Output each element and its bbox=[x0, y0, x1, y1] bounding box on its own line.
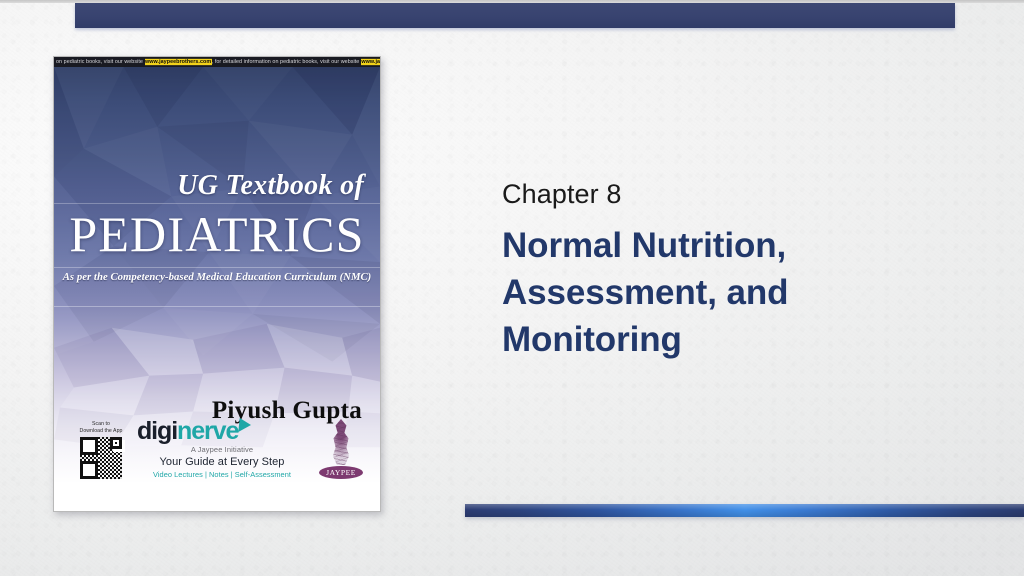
diginerve-tagline: Your Guide at Every Step bbox=[137, 456, 307, 468]
cover-title-line-1: UG Textbook of bbox=[177, 170, 364, 202]
book-cover-image: on pediatric books, visit our website ww… bbox=[53, 56, 381, 512]
chapter-label: Chapter 8 bbox=[502, 178, 932, 211]
diginerve-word-digi: digi bbox=[137, 417, 177, 445]
cover-rule-bottom bbox=[54, 306, 380, 307]
promo-middle-text: , for detailed information on pediatric … bbox=[212, 59, 361, 65]
cover-rule-top bbox=[54, 203, 380, 204]
top-accent-band bbox=[75, 3, 955, 28]
cover-title-line-2: PEDIATRICS bbox=[54, 205, 380, 263]
play-arrow-icon bbox=[239, 418, 252, 432]
diginerve-features: Video Lectures | Notes | Self-Assessment bbox=[137, 470, 307, 479]
cover-subtitle: As per the Competency-based Medical Educ… bbox=[54, 271, 380, 283]
cover-rule-mid bbox=[54, 267, 380, 268]
promo-url-1: www.jaypeebrothers.com bbox=[145, 59, 212, 65]
jaypee-statue-icon bbox=[324, 419, 358, 465]
page-title: Normal Nutrition, Assessment, and Monito… bbox=[502, 223, 932, 364]
diginerve-block: diginerve A Jaypee Initiative Your Guide… bbox=[137, 419, 307, 479]
presentation-slide: on pediatric books, visit our website ww… bbox=[0, 0, 1024, 576]
diginerve-initiative-text: A Jaypee Initiative bbox=[137, 445, 307, 454]
qr-code-icon bbox=[80, 437, 122, 479]
qr-caption-line-1: Scan to bbox=[75, 421, 127, 428]
cover-promo-strip: on pediatric books, visit our website ww… bbox=[54, 57, 380, 67]
promo-url-2: www.jaypeebrothers.com bbox=[361, 59, 380, 65]
jaypee-publisher-logo: JAYPEE bbox=[318, 419, 364, 479]
qr-caption-line-2: Download the App bbox=[75, 428, 127, 435]
diginerve-word-nerve: nerve bbox=[177, 417, 238, 445]
cover-footer-cluster: Scan to Download the App diginerve A Jay… bbox=[54, 419, 380, 497]
slide-heading-block: Chapter 8 Normal Nutrition, Assessment, … bbox=[502, 178, 932, 364]
bottom-accent-band bbox=[465, 504, 1024, 517]
jaypee-logo-text: JAYPEE bbox=[319, 466, 363, 479]
qr-code-block: Scan to Download the App bbox=[75, 421, 127, 479]
promo-lead-text: on pediatric books, visit our website bbox=[56, 59, 145, 65]
diginerve-logo: diginerve bbox=[137, 419, 307, 444]
